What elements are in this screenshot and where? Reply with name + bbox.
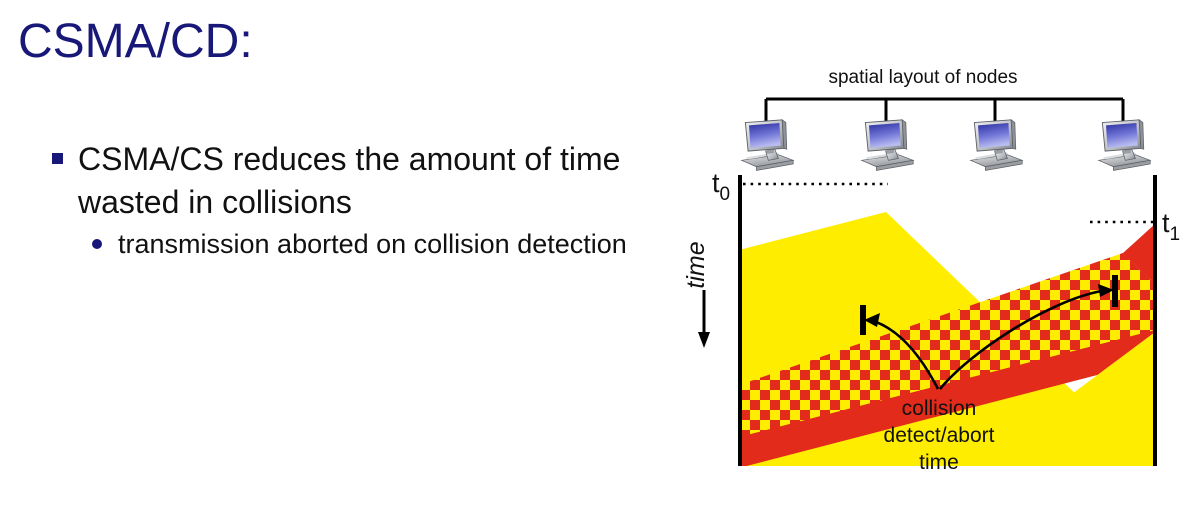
t0-label: t0 bbox=[712, 168, 730, 205]
slide-text-column: CSMA/CD: CSMA/CS reduces the amount of t… bbox=[0, 0, 670, 510]
node-1 bbox=[742, 120, 794, 171]
collision-annotation-line2: detect/abort bbox=[884, 424, 995, 447]
page-title: CSMA/CD: bbox=[18, 14, 253, 69]
bullet-level1-label: CSMA/CS reduces the amount of time waste… bbox=[78, 138, 628, 223]
computer-icon bbox=[862, 120, 914, 171]
bullet-level1: CSMA/CS reduces the amount of time waste… bbox=[48, 138, 628, 223]
time-arrow-icon bbox=[698, 290, 710, 348]
computer-icon bbox=[1099, 120, 1151, 171]
spacetime-diagram: spatial layout of nodes bbox=[670, 0, 1200, 510]
t0-subscript: 0 bbox=[720, 184, 731, 205]
time-axis-label: time bbox=[682, 241, 710, 288]
bullet-level2-label: transmission aborted on collision detect… bbox=[118, 226, 628, 263]
diagram-caption: spatial layout of nodes bbox=[828, 67, 1017, 88]
bus-line bbox=[766, 99, 1123, 122]
node-3 bbox=[971, 120, 1023, 171]
t1-label: t1 bbox=[1162, 208, 1180, 245]
computer-icon bbox=[742, 120, 794, 171]
computer-icon bbox=[971, 120, 1023, 171]
bullet-level2: transmission aborted on collision detect… bbox=[88, 226, 628, 263]
collision-annotation-line3: time bbox=[919, 451, 959, 474]
round-bullet-icon bbox=[92, 239, 102, 249]
node-2 bbox=[862, 120, 914, 171]
t1-subscript: 1 bbox=[1170, 224, 1181, 245]
abort-tick-right bbox=[1112, 275, 1118, 307]
square-bullet-icon bbox=[52, 153, 63, 164]
spacetime-body bbox=[739, 212, 1155, 492]
collision-annotation-line1: collision bbox=[902, 397, 977, 420]
node-4 bbox=[1099, 120, 1151, 171]
